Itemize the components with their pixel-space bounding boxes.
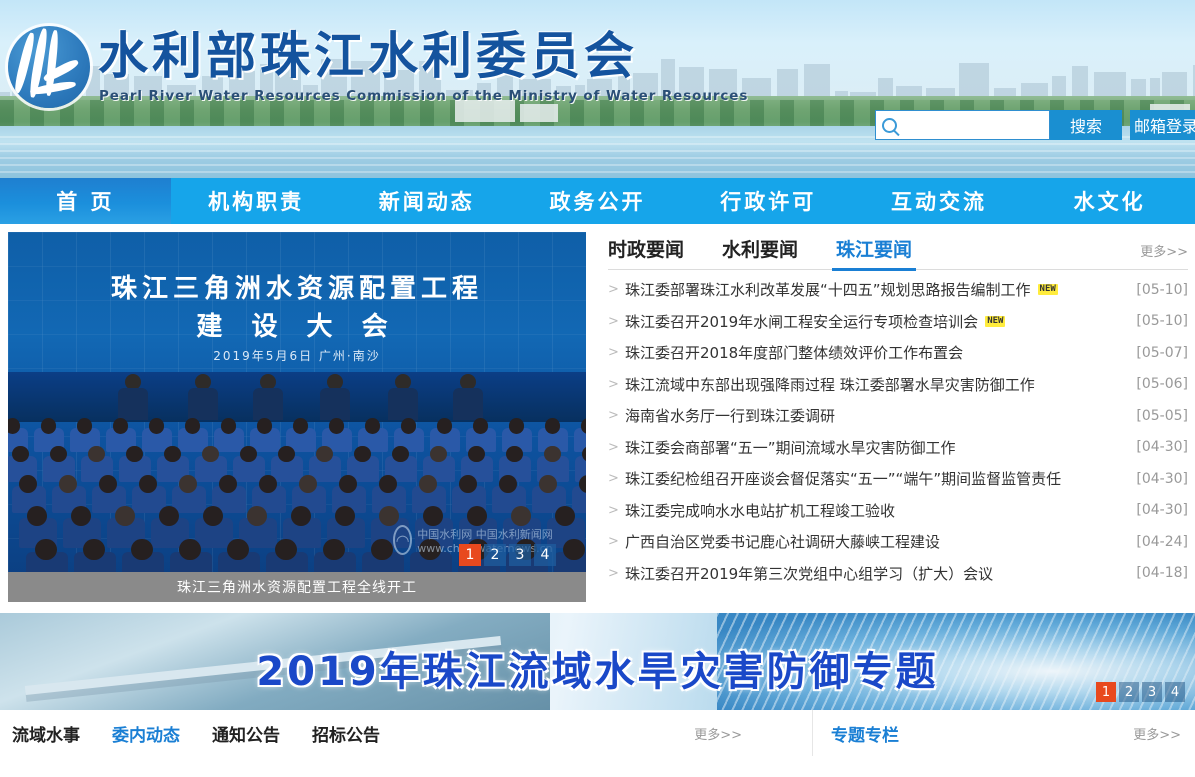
bottom-left-more-link[interactable]: 更多>>	[694, 724, 742, 743]
audience-head	[509, 418, 525, 434]
news-item[interactable]: >珠江委部署珠江水利改革发展“十四五”规划思路报告编制工作NEW[05-10]	[608, 274, 1188, 306]
audience-head	[437, 418, 453, 434]
bottom-left-tabs: 流域水事委内动态通知公告招标公告更多>>	[12, 710, 802, 756]
news-item-title[interactable]: 广西自治区党委书记鹿心社调研大藤峡工程建设	[625, 531, 940, 552]
bullet-arrow-icon: >	[608, 503, 625, 518]
news-item-title[interactable]: 珠江委纪检组召开座谈会督促落实“五一”“端午”期间监督监管责任	[625, 468, 1061, 489]
news-item[interactable]: >珠江委会商部署“五一”期间流域水旱灾害防御工作[04-30]	[608, 432, 1188, 464]
news-tab-0[interactable]: 时政要闻	[608, 235, 684, 269]
audience-head	[88, 446, 105, 463]
audience-head	[115, 506, 135, 526]
audience-head	[278, 446, 295, 463]
news-item[interactable]: >珠江流域中东部出现强降雨过程 珠江委部署水旱灾害防御工作[05-06]	[608, 369, 1188, 401]
audience-head	[468, 446, 485, 463]
audience-head	[12, 446, 29, 463]
bottom-tab-1[interactable]: 委内动态	[112, 721, 180, 746]
audience-head	[159, 506, 179, 526]
news-tab-2[interactable]: 珠江要闻	[836, 235, 912, 269]
news-item-title[interactable]: 珠江委召开2019年水闸工程安全运行专项检查培训会	[625, 311, 978, 332]
news-tabs: 时政要闻水利要闻珠江要闻更多>>	[608, 230, 1188, 270]
bullet-arrow-icon: >	[608, 345, 625, 360]
audience-head	[293, 418, 309, 434]
bullet-arrow-icon: >	[608, 534, 625, 549]
audience-head	[99, 475, 117, 493]
audience-head	[392, 446, 409, 463]
audience-head	[419, 475, 437, 493]
audience-head	[329, 418, 345, 434]
bullet-arrow-icon: >	[608, 440, 625, 455]
audience-head	[219, 475, 237, 493]
pagination-dot-2[interactable]: 2	[1119, 682, 1139, 702]
banner-title: 2019年珠江流域水旱灾害防御专题	[0, 639, 1195, 697]
news-item-date: [05-07]	[1136, 345, 1188, 361]
speaker-figure	[116, 374, 150, 420]
news-item[interactable]: >海南省水务厅一行到珠江委调研[05-05]	[608, 400, 1188, 432]
bullet-arrow-icon: >	[608, 471, 625, 486]
audience-head	[545, 418, 561, 434]
audience-head	[202, 446, 219, 463]
audience-head	[139, 475, 157, 493]
mail-login-button[interactable]: 邮箱登录	[1130, 110, 1195, 140]
search-icon	[882, 118, 897, 133]
nav-item-6[interactable]: 水文化	[1024, 178, 1195, 224]
speaker-figure	[451, 374, 485, 420]
special-topic-banner[interactable]: 2019年珠江流域水旱灾害防御专题 1234	[0, 613, 1195, 710]
audience-head	[247, 506, 267, 526]
audience-head	[316, 446, 333, 463]
audience-head	[126, 446, 143, 463]
news-item[interactable]: >珠江委召开2019年第三次党组中心组学习（扩大）会议[04-18]	[608, 558, 1188, 590]
bottom-tab-0[interactable]: 流域水事	[12, 721, 80, 746]
speaker-figure	[186, 374, 220, 420]
speaker-figure	[318, 374, 352, 420]
pagination-dot-3[interactable]: 3	[1142, 682, 1162, 702]
audience-head	[365, 418, 381, 434]
audience-head	[113, 418, 129, 434]
audience-head	[379, 475, 397, 493]
search-box[interactable]	[875, 110, 1050, 140]
audience-head	[473, 418, 489, 434]
pagination-dot-2[interactable]: 2	[484, 544, 506, 566]
news-item-date: [04-18]	[1136, 565, 1188, 581]
pagination-dot-4[interactable]: 4	[534, 544, 556, 566]
nav-item-3[interactable]: 政务公开	[512, 178, 683, 224]
news-item-date: [05-06]	[1136, 376, 1188, 392]
audience-head	[19, 475, 37, 493]
news-item-title[interactable]: 珠江委召开2018年度部门整体绩效评价工作布置会	[625, 342, 963, 363]
bottom-tab-2[interactable]: 通知公告	[212, 721, 280, 746]
site-header: 水利部珠江水利委员会 Pearl River Water Resources C…	[0, 0, 1195, 178]
news-item[interactable]: >珠江委召开2019年水闸工程安全运行专项检查培训会NEW[05-10]	[608, 306, 1188, 338]
news-item-title[interactable]: 珠江委部署珠江水利改革发展“十四五”规划思路报告编制工作	[625, 279, 1031, 300]
audience-head	[185, 418, 201, 434]
news-item-date: [04-30]	[1136, 502, 1188, 518]
news-item[interactable]: >珠江委纪检组召开座谈会督促落实“五一”“端午”期间监督监管责任[04-30]	[608, 463, 1188, 495]
search-button[interactable]: 搜索	[1050, 110, 1122, 140]
site-title-cn: 水利部珠江水利委员会	[98, 28, 638, 84]
search-area: 搜索	[875, 110, 1122, 140]
bullet-arrow-icon: >	[608, 282, 625, 297]
news-item-title[interactable]: 海南省水务厅一行到珠江委调研	[625, 405, 835, 426]
news-item-date: [04-30]	[1136, 471, 1188, 487]
news-item[interactable]: >珠江委完成响水水电站扩机工程竣工验收[04-30]	[608, 495, 1188, 527]
audience-head	[299, 475, 317, 493]
pagination-dot-1[interactable]: 1	[459, 544, 481, 566]
audience-head	[506, 446, 523, 463]
bottom-tab-special-topics[interactable]: 专题专栏	[831, 721, 899, 746]
audience-head	[149, 418, 165, 434]
audience-head	[579, 475, 586, 493]
nav-item-5[interactable]: 互动交流	[854, 178, 1025, 224]
bullet-arrow-icon: >	[608, 408, 625, 423]
audience-head	[354, 446, 371, 463]
audience-head	[41, 418, 57, 434]
nav-item-2[interactable]: 新闻动态	[341, 178, 512, 224]
new-badge: NEW	[985, 316, 1005, 327]
nav-item-0[interactable]: 首 页	[0, 178, 171, 224]
pagination-dot-4[interactable]: 4	[1165, 682, 1185, 702]
audience-head	[499, 475, 517, 493]
audience-head	[71, 506, 91, 526]
news-item-date: [05-10]	[1136, 282, 1188, 298]
news-carousel[interactable]: 珠江三角洲水资源配置工程 建 设 大 会 2019年5月6日 广州·南沙 ◠ 中…	[8, 232, 586, 602]
audience-head	[257, 418, 273, 434]
audience-head	[544, 446, 561, 463]
bottom-right-more-link[interactable]: 更多>>	[1133, 724, 1181, 743]
news-item-date: [04-24]	[1136, 534, 1188, 550]
slide-title-line2: 建 设 大 会	[8, 306, 586, 343]
news-item-date: [05-10]	[1136, 313, 1188, 329]
bullet-arrow-icon: >	[608, 314, 625, 329]
bullet-arrow-icon: >	[608, 377, 625, 392]
speaker-figure	[251, 374, 285, 420]
news-tab-1[interactable]: 水利要闻	[722, 235, 798, 269]
audience-head	[164, 446, 181, 463]
bottom-right-panel: 专题专栏 更多>>	[812, 710, 1187, 756]
audience-head	[77, 418, 93, 434]
news-item-date: [05-05]	[1136, 408, 1188, 424]
audience-head	[59, 475, 77, 493]
audience-head	[203, 506, 223, 526]
pagination-dot-1[interactable]: 1	[1096, 682, 1116, 702]
banner-pagination: 1234	[1096, 682, 1185, 702]
news-more-link[interactable]: 更多>>	[1140, 241, 1188, 260]
speaker-figure	[386, 374, 420, 420]
nav-item-4[interactable]: 行政许可	[683, 178, 854, 224]
audience-head	[27, 506, 47, 526]
news-item[interactable]: >珠江委召开2018年度部门整体绩效评价工作布置会[05-07]	[608, 337, 1188, 369]
bullet-arrow-icon: >	[608, 566, 625, 581]
audience-head	[539, 475, 557, 493]
bottom-sections: 流域水事委内动态通知公告招标公告更多>> 专题专栏 更多>>	[0, 710, 1195, 756]
news-item-title[interactable]: 珠江委完成响水水电站扩机工程竣工验收	[625, 500, 895, 521]
news-panel: 时政要闻水利要闻珠江要闻更多>> >珠江委部署珠江水利改革发展“十四五”规划思路…	[608, 230, 1188, 602]
audience-head	[335, 506, 355, 526]
audience-head	[259, 475, 277, 493]
audience-head	[221, 418, 237, 434]
audience-head	[430, 446, 447, 463]
slide-subtitle: 2019年5月6日 广州·南沙	[8, 347, 586, 364]
audience-head	[50, 446, 67, 463]
stage-table	[8, 372, 586, 422]
pagination-dot-3[interactable]: 3	[509, 544, 531, 566]
news-item-date: [04-30]	[1136, 439, 1188, 455]
news-item-title[interactable]: 珠江委会商部署“五一”期间流域水旱灾害防御工作	[625, 437, 956, 458]
carousel-caption[interactable]: 珠江三角洲水资源配置工程全线开工	[8, 572, 586, 602]
homepage: 水利部珠江水利委员会 Pearl River Water Resources C…	[0, 0, 1195, 777]
audience-head	[401, 418, 417, 434]
audience-head	[291, 506, 311, 526]
site-title-en: Pearl River Water Resources Commission o…	[99, 88, 748, 104]
carousel-pagination: 1234	[459, 544, 556, 566]
commission-logo-icon	[8, 26, 90, 108]
nav-item-1[interactable]: 机构职责	[171, 178, 342, 224]
main-content: 珠江三角洲水资源配置工程 建 设 大 会 2019年5月6日 广州·南沙 ◠ 中…	[0, 224, 1195, 609]
audience-head	[240, 446, 257, 463]
slide-title-line1: 珠江三角洲水资源配置工程	[8, 268, 586, 305]
audience-head	[459, 475, 477, 493]
news-list: >珠江委部署珠江水利改革发展“十四五”规划思路报告编制工作NEW[05-10]>…	[608, 274, 1188, 589]
riverside-building	[520, 104, 558, 122]
audience-head	[179, 475, 197, 493]
audience-head	[339, 475, 357, 493]
bottom-tab-3[interactable]: 招标公告	[312, 721, 380, 746]
news-item-title[interactable]: 珠江委召开2019年第三次党组中心组学习（扩大）会议	[625, 563, 993, 584]
new-badge: NEW	[1038, 284, 1058, 295]
watermark-logo-icon: ◠	[393, 525, 412, 555]
news-item[interactable]: >广西自治区党委书记鹿心社调研大藤峡工程建设[04-24]	[608, 526, 1188, 558]
news-item-title[interactable]: 珠江流域中东部出现强降雨过程 珠江委部署水旱灾害防御工作	[625, 374, 1035, 395]
main-navigation: 首 页机构职责新闻动态政务公开行政许可互动交流水文化	[0, 178, 1195, 224]
